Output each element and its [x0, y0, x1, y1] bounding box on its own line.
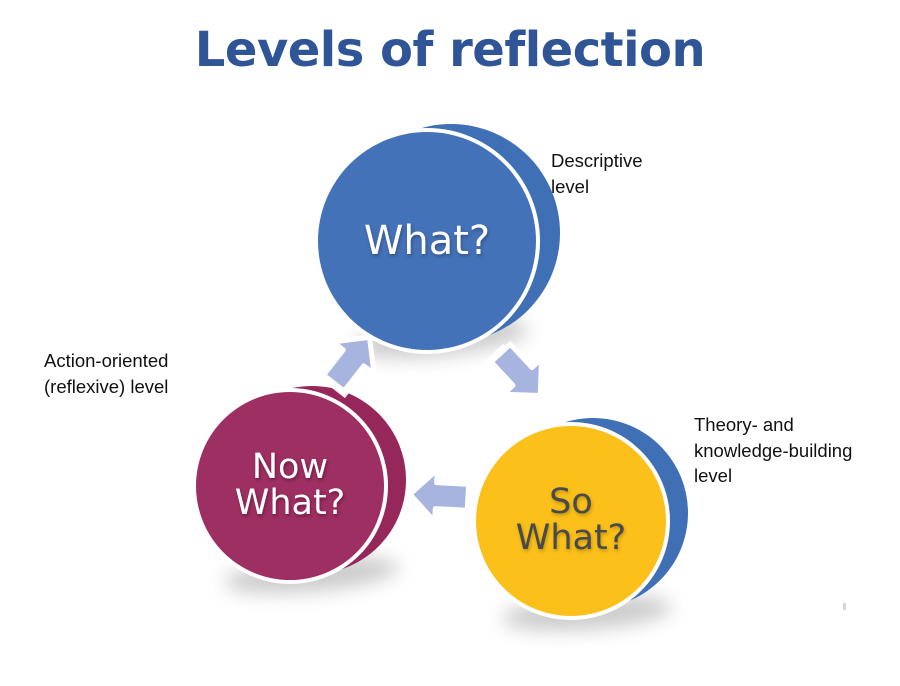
node-now-what-disc[interactable]: Now What? — [196, 392, 384, 580]
arrow-left-icon — [402, 454, 484, 536]
node-now-what[interactable]: Now What? — [196, 386, 411, 601]
page-title: Levels of reflection — [0, 22, 900, 78]
caption-theory-knowledge-building-level: Theory- and knowledge-building level — [694, 412, 894, 489]
caption-descriptive-level: Descriptive level — [551, 148, 761, 199]
caption-action-oriented-level: Action-oriented (reflexive) level — [44, 348, 259, 399]
node-so-what[interactable]: So What? — [476, 418, 691, 633]
node-so-what-label: So What? — [516, 485, 627, 556]
node-now-what-label: Now What? — [235, 450, 346, 521]
node-so-what-disc[interactable]: So What? — [476, 426, 666, 616]
slide-canvas: Levels of reflection What? Now What? So … — [0, 0, 900, 686]
node-what-label: What? — [364, 221, 490, 262]
corner-artifact-mark — [843, 603, 846, 610]
